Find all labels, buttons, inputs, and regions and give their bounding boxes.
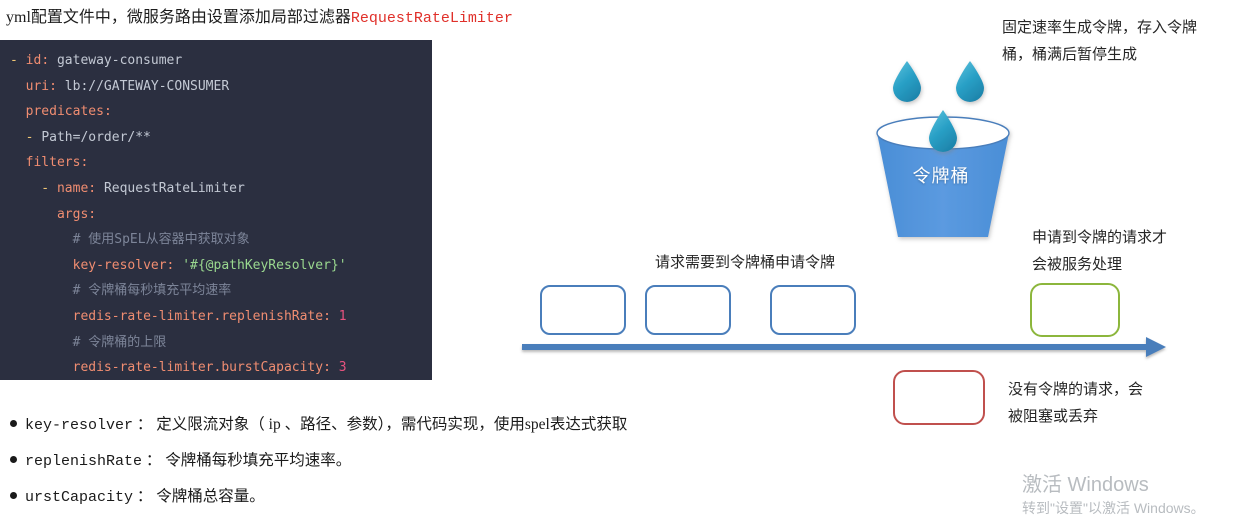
watermark-title: 激活 Windows (1022, 472, 1205, 498)
annotation-request-needs-token: 请求需要到令牌桶申请令牌 (655, 249, 875, 276)
slide-canvas: yml配置文件中，微服务路由设置添加局部过滤器RequestRateLimite… (0, 0, 1250, 515)
request-flow-arrow (522, 337, 1166, 357)
token-bucket-diagram: 令牌桶 固定速率生成令牌，存入令牌 桶，桶满后暂停生成 请求需要到令牌桶申请令牌… (0, 0, 1250, 515)
watermark-subtitle: 转到"设置"以激活 Windows。 (1022, 498, 1205, 515)
request-box-1[interactable] (540, 285, 626, 335)
annotation-granted: 申请到令牌的请求才 会被服务处理 (1032, 224, 1212, 278)
droplet-icon-falling-2 (956, 61, 984, 102)
annotation-token-generation: 固定速率生成令牌，存入令牌 桶，桶满后暂停生成 (1002, 14, 1212, 68)
request-box-3[interactable] (770, 285, 856, 335)
windows-activation-watermark: 激活 Windows 转到"设置"以激活 Windows。 (1022, 472, 1205, 515)
token-bucket-label: 令牌桶 (868, 162, 1014, 188)
denied-request-box[interactable] (893, 370, 985, 425)
droplet-icon-falling-1 (893, 61, 921, 102)
granted-request-box[interactable] (1030, 283, 1120, 337)
request-box-2[interactable] (645, 285, 731, 335)
annotation-denied: 没有令牌的请求，会 被阻塞或丢弃 (1008, 376, 1188, 430)
token-bucket-label-wrap: 令牌桶 (868, 112, 1024, 246)
